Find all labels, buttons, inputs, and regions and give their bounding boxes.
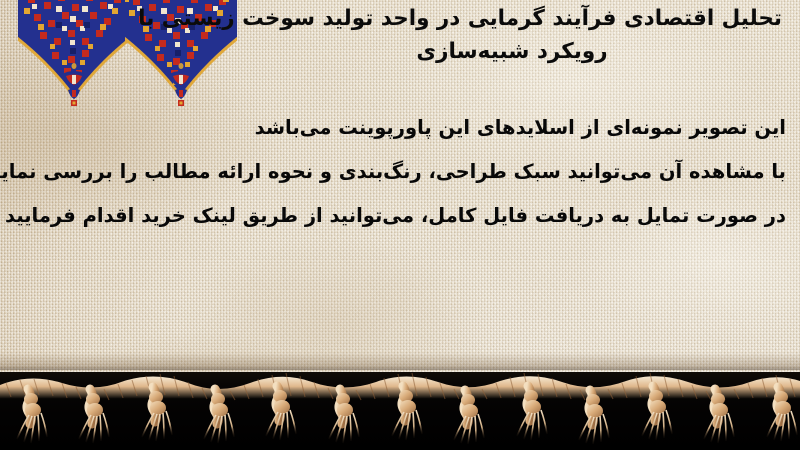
presentation-slide: تحلیل اقتصادی فرآیند گرمایی در واحد تولی… [0,0,800,450]
carpet-fringe [0,355,800,450]
title-line-1: تحلیل اقتصادی فرآیند گرمایی در واحد تولی… [242,2,782,35]
slide-title: تحلیل اقتصادی فرآیند گرمایی در واحد تولی… [242,2,782,68]
persian-medallion-icon-left [18,0,130,110]
title-line-2: رویکرد شبیه‌سازی [242,35,782,68]
slide-body: این تصویر نمونه‌ای از اسلایدهای این پاور… [8,106,786,238]
body-line-3: در صورت تمایل به دریافت فایل کامل، می‌تو… [8,194,786,238]
body-line-1: این تصویر نمونه‌ای از اسلایدهای این پاور… [8,106,786,150]
fringe-tassels [0,355,800,450]
body-line-2: با مشاهده آن می‌توانید سبک طراحی، رنگ‌بن… [8,150,786,194]
